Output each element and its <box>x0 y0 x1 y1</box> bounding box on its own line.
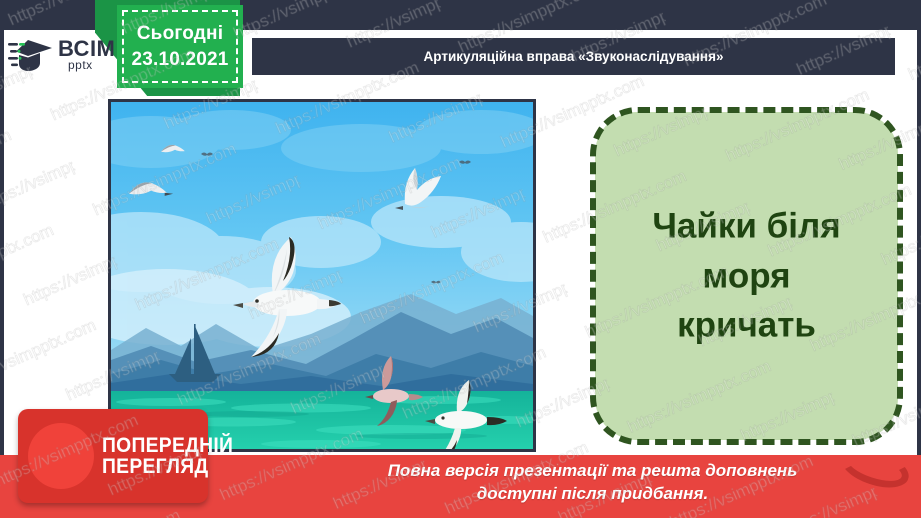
phrase-card: Чайки біля моря кричать <box>595 112 898 440</box>
graduation-cap-icon <box>8 36 54 74</box>
purchase-notice-text: Повна версія презентації та решта доповн… <box>280 459 905 506</box>
preview-badge[interactable]: ПОПЕРЕДНІЙ ПЕРЕГЛЯД <box>18 409 208 503</box>
page-title: Артикуляційна вправа «Звуконаслідування» <box>424 49 724 64</box>
notice-line-2: доступні після придбання. <box>280 482 905 505</box>
preview-line-1: ПОПЕРЕДНІЙ <box>102 435 233 456</box>
phrase-line-3: кричать <box>605 301 888 351</box>
preview-badge-label: ПОПЕРЕДНІЙ ПЕРЕГЛЯД <box>102 435 245 477</box>
slide-title-bar: Артикуляційна вправа «Звуконаслідування» <box>252 38 895 75</box>
seascape-illustration <box>108 99 536 452</box>
phrase-line-2: моря <box>605 251 888 301</box>
phrase-line-1: Чайки біля <box>605 201 888 251</box>
preview-line-2: ПЕРЕГЛЯД <box>102 456 233 477</box>
phrase-text: Чайки біля моря кричать <box>595 201 898 350</box>
notice-line-1: Повна версія презентації та решта доповн… <box>280 459 905 482</box>
logo-suffix-text: pptx <box>68 60 115 71</box>
date-badge-label: Сьогодні <box>137 21 223 47</box>
brand-logo: ВСІМ pptx <box>8 31 116 79</box>
slide-canvas: ВСІМ pptx Сьогодні 23.10.2021 Артикуляці… <box>0 0 921 518</box>
date-badge-value: 23.10.2021 <box>131 47 228 73</box>
today-date-badge: Сьогодні 23.10.2021 <box>117 5 243 88</box>
magnifier-icon <box>28 423 94 489</box>
logo-brand-text: ВСІМ <box>58 39 115 60</box>
